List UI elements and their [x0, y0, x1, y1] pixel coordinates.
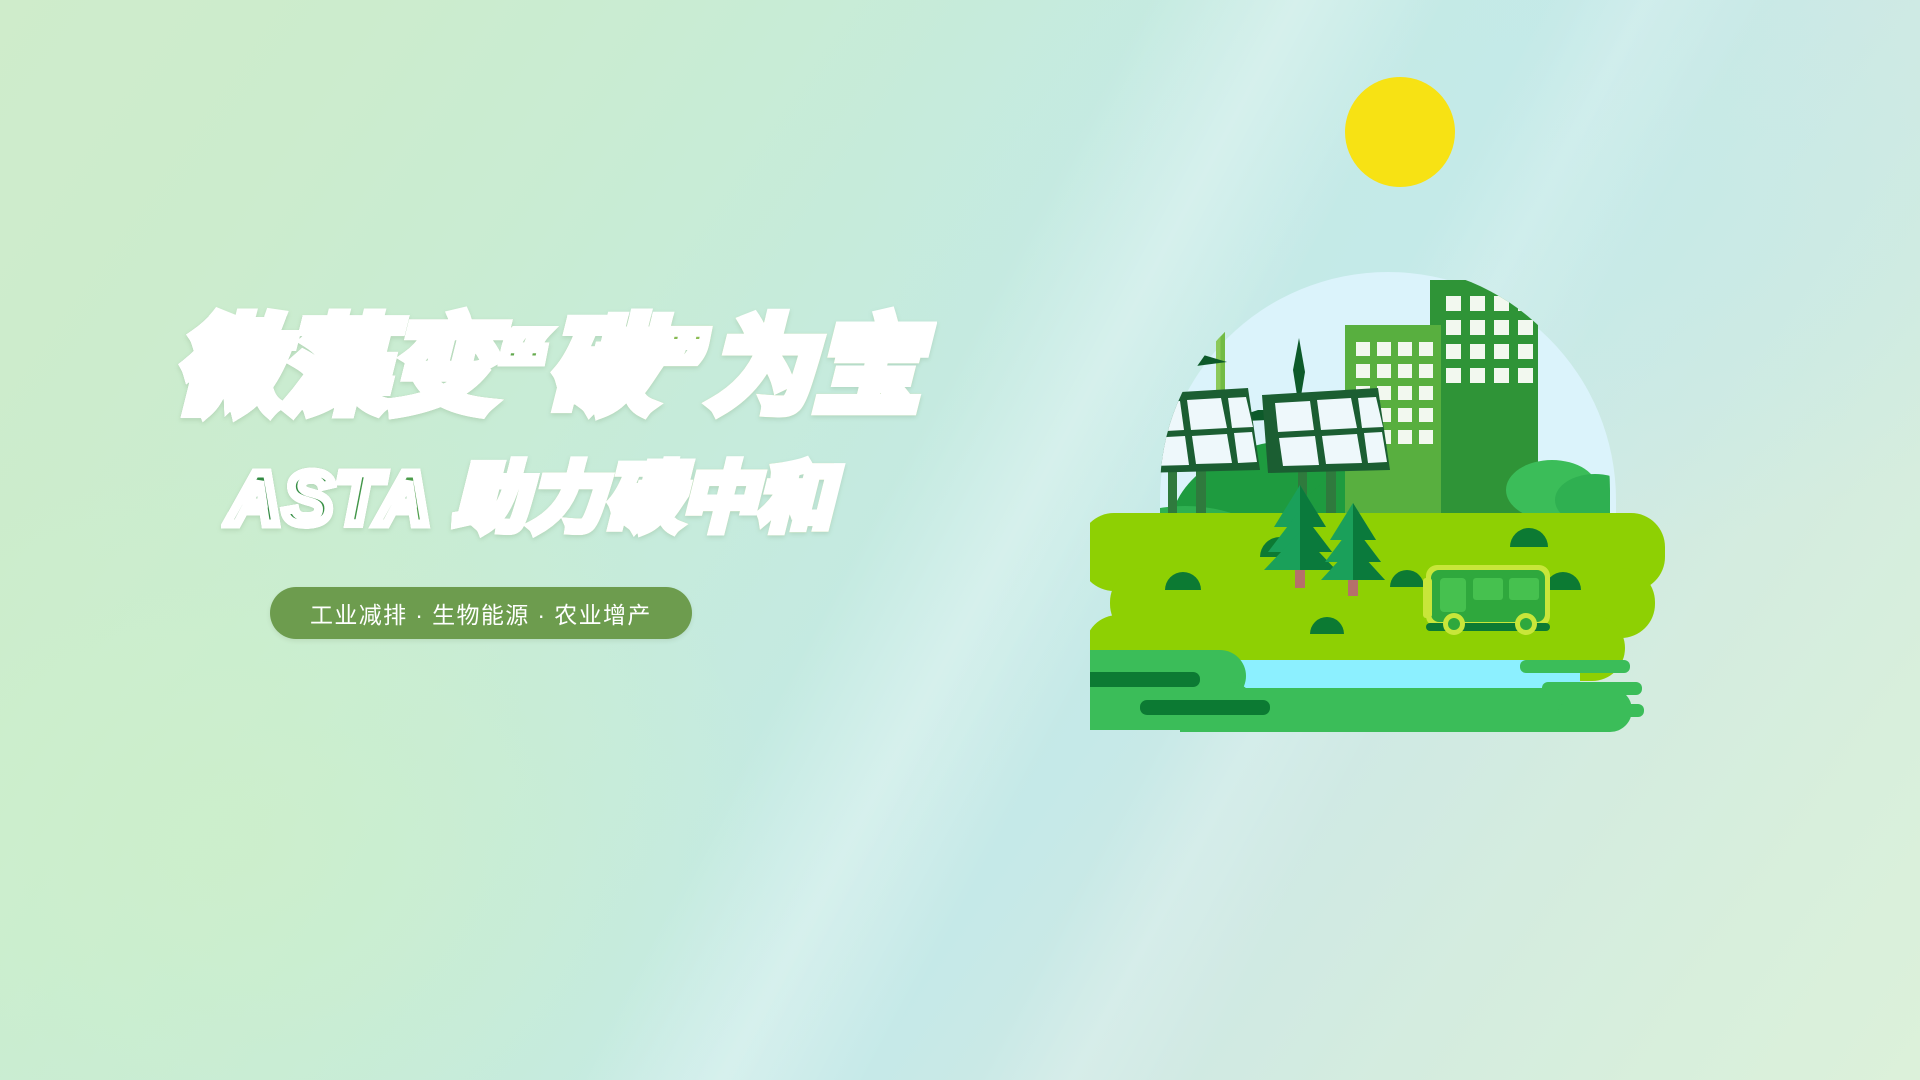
tagline-pill: 工业减排 · 生物能源 · 农业增产: [270, 587, 692, 639]
sun-icon: [1345, 77, 1455, 187]
eco-banner: 微藻变“碳”为宝 ASTA 助力碳中和 工业减排 · 生物能源 · 农业增产: [0, 0, 1920, 1080]
headline-block: 微藻变“碳”为宝 ASTA 助力碳中和 工业减排 · 生物能源 · 农业增产: [0, 0, 920, 1080]
page-title: 微藻变“碳”为宝: [176, 316, 921, 420]
water-stripe-1: [1520, 660, 1630, 673]
page-subtitle: ASTA 助力碳中和: [228, 462, 834, 536]
tagline-label: 工业减排 · 生物能源 · 农业增产: [310, 596, 652, 630]
bank-dash-upper: [1090, 672, 1200, 687]
bus-icon: [1423, 565, 1550, 635]
water-stripe-2: [1542, 682, 1642, 695]
eco-city-illustration: [1090, 70, 1810, 790]
bank-dash-lower: [1140, 700, 1270, 715]
water-stripe-3: [1558, 704, 1644, 717]
